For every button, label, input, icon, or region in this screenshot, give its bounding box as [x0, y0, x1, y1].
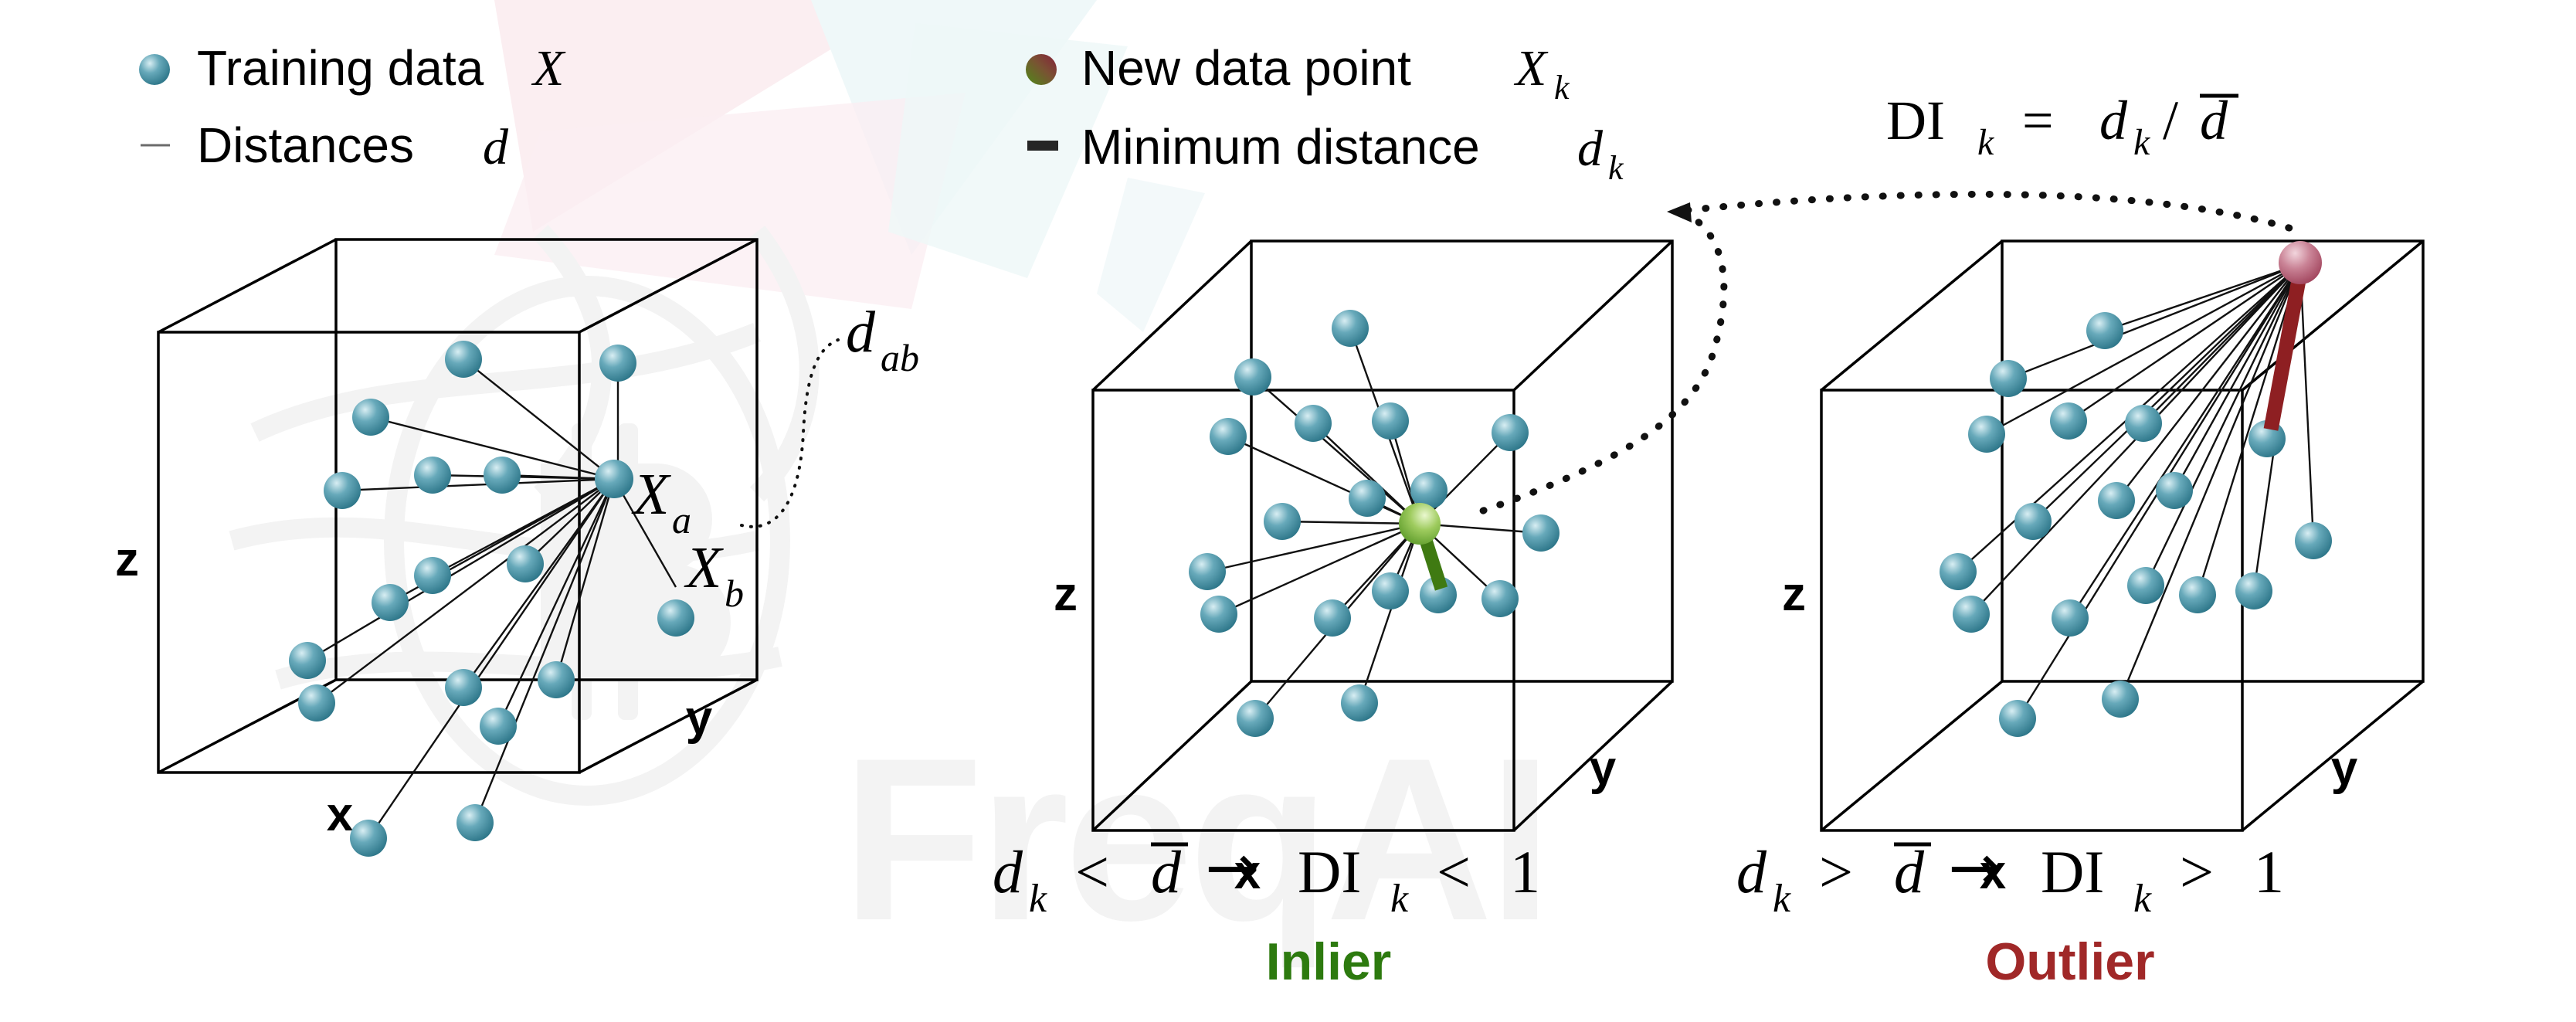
training-point	[1189, 553, 1226, 590]
legend-symbol-new-data-point-sub: k	[1554, 69, 1570, 107]
training-point	[1968, 416, 2005, 453]
caption-outlier-relation2: >	[2180, 838, 2214, 905]
caption-outlier-dbar: d	[1894, 838, 1925, 905]
legend-symbol-minimum-distance: d	[1577, 121, 1604, 177]
legend-symbol-training-data: X	[531, 40, 566, 97]
training-point	[445, 669, 482, 706]
formula-di-lhs-sub: k	[1977, 122, 1995, 163]
caption-inlier-di: DI	[1298, 838, 1361, 905]
caption-inlier-dk-sub: k	[1029, 877, 1047, 921]
legend-item-minimum-distance[interactable]: Minimum distance d k	[1027, 119, 1624, 187]
caption-outlier-di: DI	[2041, 838, 2104, 905]
axis-label-x-training: x	[327, 788, 354, 841]
training-point	[2127, 567, 2164, 604]
training-point	[1349, 480, 1386, 517]
caption-outlier: d k > d → DI k > 1	[1736, 830, 2284, 921]
training-point	[289, 642, 326, 679]
verdict-inlier: Inlier	[1266, 932, 1392, 991]
training-point	[2050, 402, 2087, 440]
legend-label-minimum-distance: Minimum distance	[1081, 119, 1480, 175]
caption-outlier-di-sub: k	[2133, 877, 2152, 921]
training-point	[2014, 503, 2052, 540]
training-point	[1522, 514, 1560, 552]
caption-inlier-relation2: <	[1437, 838, 1471, 905]
panel-outlier: z x y	[1782, 241, 2423, 899]
axis-label-y-training: y	[686, 691, 713, 745]
axis-label-z-outlier: z	[1782, 568, 1806, 621]
training-point	[1990, 360, 2027, 397]
formula-di-definition: DI k = d k / d	[1886, 90, 2238, 163]
axis-label-y-outlier: y	[2331, 742, 2358, 795]
axis-label-z-training: z	[115, 533, 139, 586]
formula-di-equals: =	[2022, 90, 2054, 151]
training-point	[480, 708, 517, 745]
training-point	[1264, 503, 1301, 540]
teal-dot-marker	[139, 54, 170, 85]
distance-lines-outlier	[1958, 264, 2313, 718]
training-point	[2102, 681, 2139, 718]
formula-di-slash: /	[2163, 90, 2178, 151]
training-point	[1372, 402, 1409, 440]
legend-item-distances[interactable]: Distances d	[141, 117, 509, 175]
connector-dotted-curves	[1468, 194, 2302, 516]
training-point	[2052, 599, 2089, 637]
training-point	[2086, 312, 2123, 349]
formula-di-lhs: DI	[1886, 90, 1945, 151]
new-data-point-outlier	[2279, 241, 2322, 284]
caption-outlier-arrow: →	[1948, 830, 2002, 905]
training-point	[414, 557, 451, 594]
axis-label-z-inlier: z	[1054, 568, 1078, 621]
connector-to-outlier	[1688, 194, 2302, 232]
legend-symbol-minimum-distance-sub: k	[1608, 149, 1624, 187]
caption-outlier-value: 1	[2254, 838, 2284, 905]
training-point	[2098, 482, 2135, 519]
caption-outlier-dk-sub: k	[1773, 877, 1791, 921]
training-point	[1481, 580, 1519, 617]
formula-di-denominator: d	[2200, 90, 2228, 151]
training-point	[1210, 418, 1247, 455]
training-point	[1200, 596, 1237, 633]
caption-inlier-value: 1	[1510, 838, 1540, 905]
formula-di-numerator-sub: k	[2133, 122, 2151, 163]
callout-label-dab: d	[846, 300, 876, 365]
training-point-xa	[595, 460, 633, 498]
training-point	[1492, 414, 1529, 451]
training-point	[2179, 576, 2216, 613]
training-point	[2235, 572, 2272, 609]
callout-label-dab-sub: ab	[881, 336, 919, 379]
training-point	[1953, 596, 1990, 633]
training-point	[2156, 472, 2193, 509]
formula-di-numerator: d	[2099, 90, 2128, 151]
legend-item-new-data-point[interactable]: New data point X k	[1026, 40, 1570, 107]
caption-outlier-relation: >	[1819, 838, 1853, 905]
caption-inlier-arrow: →	[1205, 830, 1259, 905]
caption-inlier-di-sub: k	[1390, 877, 1409, 921]
training-point	[324, 472, 361, 509]
training-point	[1234, 358, 1271, 396]
thick-dash-marker	[1027, 141, 1058, 151]
training-point	[350, 820, 387, 857]
training-point	[599, 345, 636, 382]
figure-root: FreqAI Training data X Distances d New d…	[0, 0, 2576, 1022]
green-red-dot-marker	[1026, 54, 1057, 85]
label-xa-sub: a	[672, 498, 691, 542]
training-point	[372, 584, 409, 621]
legend-symbol-new-data-point: X	[1513, 40, 1549, 97]
training-point	[484, 457, 521, 494]
training-point	[538, 661, 575, 698]
training-point	[507, 545, 544, 582]
training-point	[1295, 405, 1332, 442]
training-point	[1314, 599, 1351, 637]
axis-label-y-inlier: y	[1590, 742, 1617, 795]
legend-label-distances: Distances	[197, 117, 414, 173]
figure-canvas: FreqAI Training data X Distances d New d…	[0, 0, 2576, 1022]
training-point	[2125, 405, 2162, 442]
training-point	[2295, 522, 2332, 559]
verdict-outlier: Outlier	[1985, 932, 2154, 991]
training-point-xb	[657, 599, 694, 637]
connector-to-inlier	[1468, 212, 1724, 516]
training-point	[445, 341, 482, 378]
label-xb: X	[684, 535, 724, 600]
caption-inlier-relation: <	[1075, 838, 1109, 905]
training-point	[1332, 310, 1369, 347]
label-xb-sub: b	[725, 572, 744, 615]
caption-inlier-dbar: d	[1151, 838, 1182, 905]
legend-item-training-data[interactable]: Training data X	[139, 40, 566, 97]
training-point	[352, 399, 389, 436]
caption-inlier-dk: d	[993, 838, 1023, 905]
training-point	[1341, 684, 1378, 722]
legend-label-new-data-point: New data point	[1081, 40, 1411, 96]
new-data-point-inlier	[1399, 503, 1441, 545]
training-point	[1237, 700, 1274, 737]
training-point	[298, 684, 335, 722]
legend-label-training-data: Training data	[197, 40, 484, 96]
training-point	[456, 804, 494, 841]
connector-arrowhead	[1667, 202, 1692, 222]
legend-symbol-distances: d	[483, 119, 509, 175]
caption-outlier-dk: d	[1736, 838, 1767, 905]
training-point	[1940, 553, 1977, 590]
training-point	[414, 457, 451, 494]
label-xa: X	[631, 462, 671, 527]
training-point	[1372, 572, 1409, 609]
training-point	[1999, 700, 2036, 737]
